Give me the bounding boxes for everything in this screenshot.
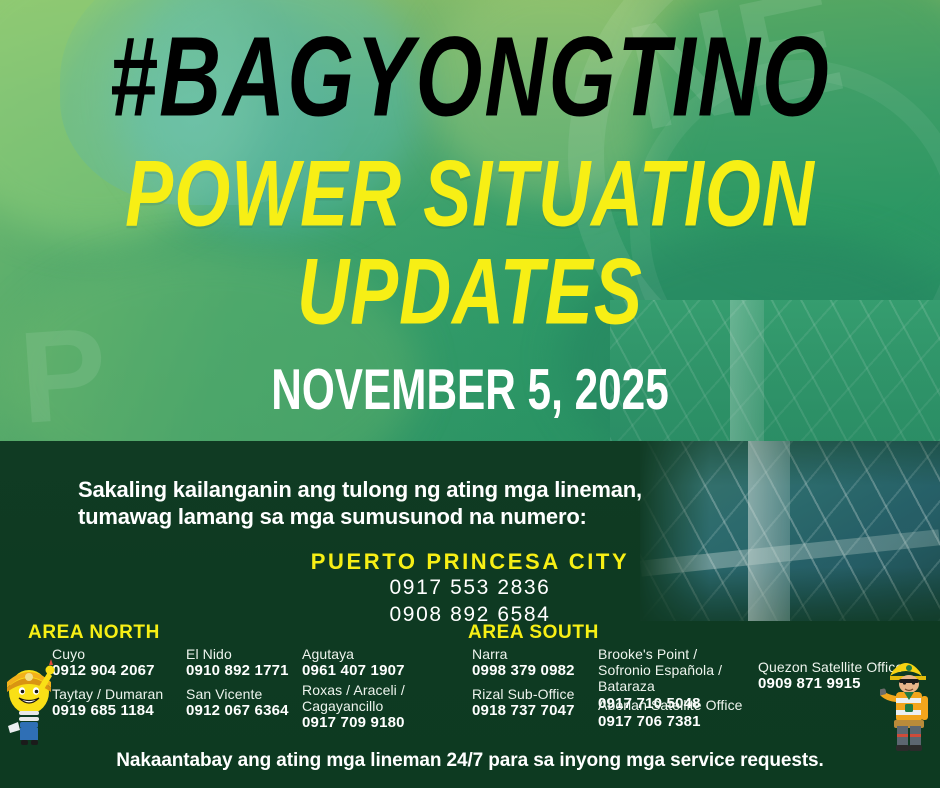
main-title-line-2: UPDATES bbox=[0, 248, 940, 338]
callout-line-2: tumawag lamang sa mga sumusunod na numer… bbox=[78, 504, 718, 531]
footer-message: Nakaantabay ang ating mga lineman 24/7 p… bbox=[0, 750, 940, 772]
contact-place: Narra bbox=[472, 646, 575, 662]
contact-entry: Agutaya 0961 407 1907 bbox=[302, 646, 405, 680]
contact-entry: Narra 0998 379 0982 bbox=[472, 646, 575, 680]
contact-number[interactable]: 0917 709 9180 bbox=[302, 714, 410, 731]
contact-place: Taytay / Dumaran bbox=[52, 686, 163, 702]
contact-place: Agutaya bbox=[302, 646, 405, 662]
callout-line-1: Sakaling kailanganin ang tulong ng ating… bbox=[78, 477, 718, 504]
contact-entry: Aborlan Satellite Office 0917 706 7381 bbox=[598, 697, 743, 731]
contact-number[interactable]: 0912 067 6364 bbox=[186, 702, 289, 719]
hero-section: NE P #BAGYONGTINO POWER SITUATION UPDATE… bbox=[0, 0, 940, 441]
contact-entry: Rizal Sub-Office 0918 737 7047 bbox=[472, 686, 575, 720]
hero-content: #BAGYONGTINO POWER SITUATION UPDATES NOV… bbox=[0, 0, 940, 441]
contact-entry: Taytay / Dumaran 0919 685 1184 bbox=[52, 686, 163, 720]
main-title-line-1: POWER SITUATION bbox=[0, 150, 940, 240]
contact-number[interactable]: 0912 904 2067 bbox=[52, 662, 155, 679]
contact-place: Rizal Sub-Office bbox=[472, 686, 575, 702]
contact-entry: Cuyo 0912 904 2067 bbox=[52, 646, 155, 680]
puerto-princesa-heading: PUERTO PRINCESA CITY bbox=[0, 549, 940, 575]
contact-place: Brooke's Point / Sofronio Española / Bat… bbox=[598, 646, 750, 695]
contact-number[interactable]: 0918 737 7047 bbox=[472, 702, 575, 719]
contact-number[interactable]: 0961 407 1907 bbox=[302, 662, 405, 679]
contact-number[interactable]: 0910 892 1771 bbox=[186, 662, 289, 679]
contact-number[interactable]: 0919 685 1184 bbox=[52, 702, 163, 719]
contact-entry: San Vicente 0912 067 6364 bbox=[186, 686, 289, 720]
lightbulb-mascot-icon bbox=[2, 648, 64, 752]
contact-entry: Roxas / Araceli / Cagayancillo 0917 709 … bbox=[302, 682, 410, 732]
callout-message: Sakaling kailanganin ang tulong ng ating… bbox=[78, 477, 718, 531]
puerto-princesa-phone[interactable]: 0917 553 2836 bbox=[0, 575, 940, 601]
puerto-princesa-block: PUERTO PRINCESA CITY 0917 553 2836 0908 … bbox=[0, 549, 940, 628]
contact-number[interactable]: 0917 706 7381 bbox=[598, 713, 743, 730]
contact-place: San Vicente bbox=[186, 686, 289, 702]
date-label: NOVEMBER 5, 2025 bbox=[38, 360, 903, 418]
contact-place: Roxas / Araceli / Cagayancillo bbox=[302, 682, 410, 714]
area-north-heading: AREA NORTH bbox=[28, 622, 160, 644]
power-situation-poster: NE P #BAGYONGTINO POWER SITUATION UPDATE… bbox=[0, 0, 940, 788]
contact-entry: El Nido 0910 892 1771 bbox=[186, 646, 289, 680]
hashtag-title: #BAGYONGTINO bbox=[0, 22, 940, 133]
contact-place: El Nido bbox=[186, 646, 289, 662]
contact-place: Cuyo bbox=[52, 646, 155, 662]
lineman-mascot-icon bbox=[880, 646, 938, 752]
contact-place: Aborlan Satellite Office bbox=[598, 697, 743, 713]
area-south-heading: AREA SOUTH bbox=[468, 622, 599, 644]
contact-number[interactable]: 0998 379 0982 bbox=[472, 662, 575, 679]
